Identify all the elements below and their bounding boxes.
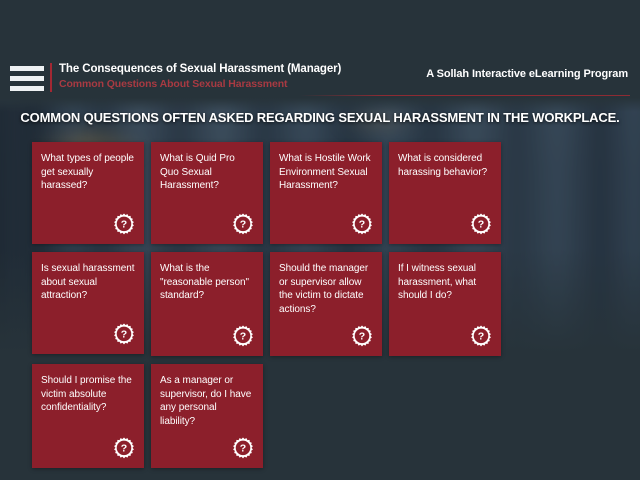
question-card[interactable]: Should the manager or supervisor allow t… (270, 252, 382, 356)
question-card-label: Should I promise the victim absolute con… (41, 374, 135, 415)
hamburger-bar-3 (10, 86, 44, 91)
question-mark-gear-icon: ? (470, 325, 492, 347)
question-card-label: Is sexual harassment about sexual attrac… (41, 262, 135, 303)
brand-label: A Sollah Interactive eLearning Program (426, 68, 628, 80)
svg-text:?: ? (359, 331, 365, 343)
question-mark-gear-icon: ? (113, 323, 135, 345)
header-rule (300, 95, 630, 96)
question-card[interactable]: What types of people get sexually harass… (32, 142, 144, 244)
svg-text:?: ? (478, 331, 484, 343)
hamburger-bar-1 (10, 66, 44, 71)
svg-text:?: ? (240, 331, 246, 343)
question-card-label: What is Hostile Work Environment Sexual … (279, 152, 373, 193)
svg-text:?: ? (121, 219, 127, 231)
course-title: The Consequences of Sexual Harassment (M… (59, 62, 341, 76)
question-mark-gear-icon: ? (113, 213, 135, 235)
question-card[interactable]: What is the "reasonable person" standard… (151, 252, 263, 356)
question-card[interactable]: Should I promise the victim absolute con… (32, 364, 144, 468)
svg-text:?: ? (240, 443, 246, 455)
question-mark-gear-icon: ? (470, 213, 492, 235)
question-card-label: If I witness sexual harassment, what sho… (398, 262, 492, 303)
hamburger-bar-2 (10, 76, 44, 81)
question-mark-gear-icon: ? (351, 325, 373, 347)
question-card[interactable]: What is Hostile Work Environment Sexual … (270, 142, 382, 244)
course-subtitle: Common Questions About Sexual Harassment (59, 77, 341, 91)
svg-text:?: ? (478, 219, 484, 231)
hamburger-menu-icon[interactable] (10, 66, 44, 91)
header-divider (50, 63, 52, 92)
question-card-label: What is Quid Pro Quo Sexual Harassment? (160, 152, 254, 193)
svg-text:?: ? (121, 443, 127, 455)
header-title-block: The Consequences of Sexual Harassment (M… (59, 62, 341, 91)
question-mark-gear-icon: ? (232, 213, 254, 235)
question-card-label: As a manager or supervisor, do I have an… (160, 374, 254, 428)
slide-canvas: The Consequences of Sexual Harassment (M… (0, 0, 640, 480)
svg-text:?: ? (121, 329, 127, 341)
question-card-label: What is considered harassing behavior? (398, 152, 492, 179)
page-title: COMMON QUESTIONS OFTEN ASKED REGARDING S… (0, 110, 640, 125)
svg-text:?: ? (240, 219, 246, 231)
question-card[interactable]: As a manager or supervisor, do I have an… (151, 364, 263, 468)
question-card[interactable]: What is considered harassing behavior? ? (389, 142, 501, 244)
question-card[interactable]: What is Quid Pro Quo Sexual Harassment? … (151, 142, 263, 244)
svg-text:?: ? (359, 219, 365, 231)
question-card-grid: What types of people get sexually harass… (32, 142, 608, 468)
question-card-label: Should the manager or supervisor allow t… (279, 262, 373, 316)
question-mark-gear-icon: ? (351, 213, 373, 235)
header-bar: The Consequences of Sexual Harassment (M… (0, 0, 640, 98)
question-mark-gear-icon: ? (113, 437, 135, 459)
question-mark-gear-icon: ? (232, 437, 254, 459)
question-card-label: What types of people get sexually harass… (41, 152, 135, 193)
question-card[interactable]: If I witness sexual harassment, what sho… (389, 252, 501, 356)
question-card[interactable]: Is sexual harassment about sexual attrac… (32, 252, 144, 354)
question-card-label: What is the "reasonable person" standard… (160, 262, 254, 303)
question-mark-gear-icon: ? (232, 325, 254, 347)
